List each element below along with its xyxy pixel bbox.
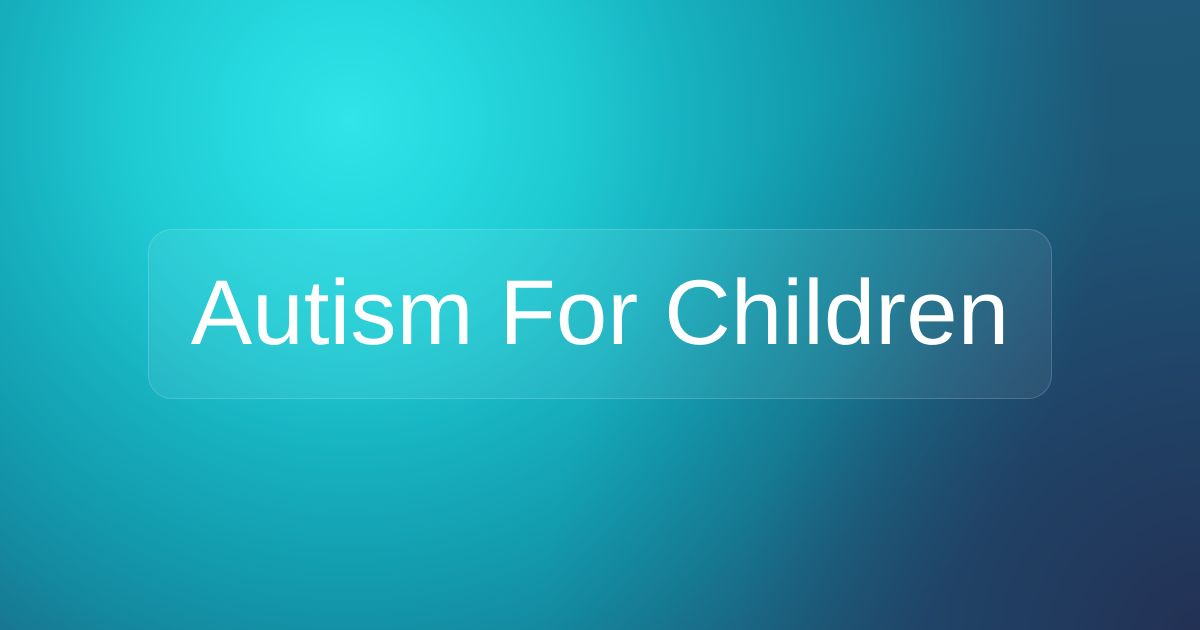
title-card: Autism For Children [148, 229, 1052, 399]
social-share-banner: Autism For Children [0, 0, 1200, 630]
page-title: Autism For Children [163, 266, 1038, 362]
